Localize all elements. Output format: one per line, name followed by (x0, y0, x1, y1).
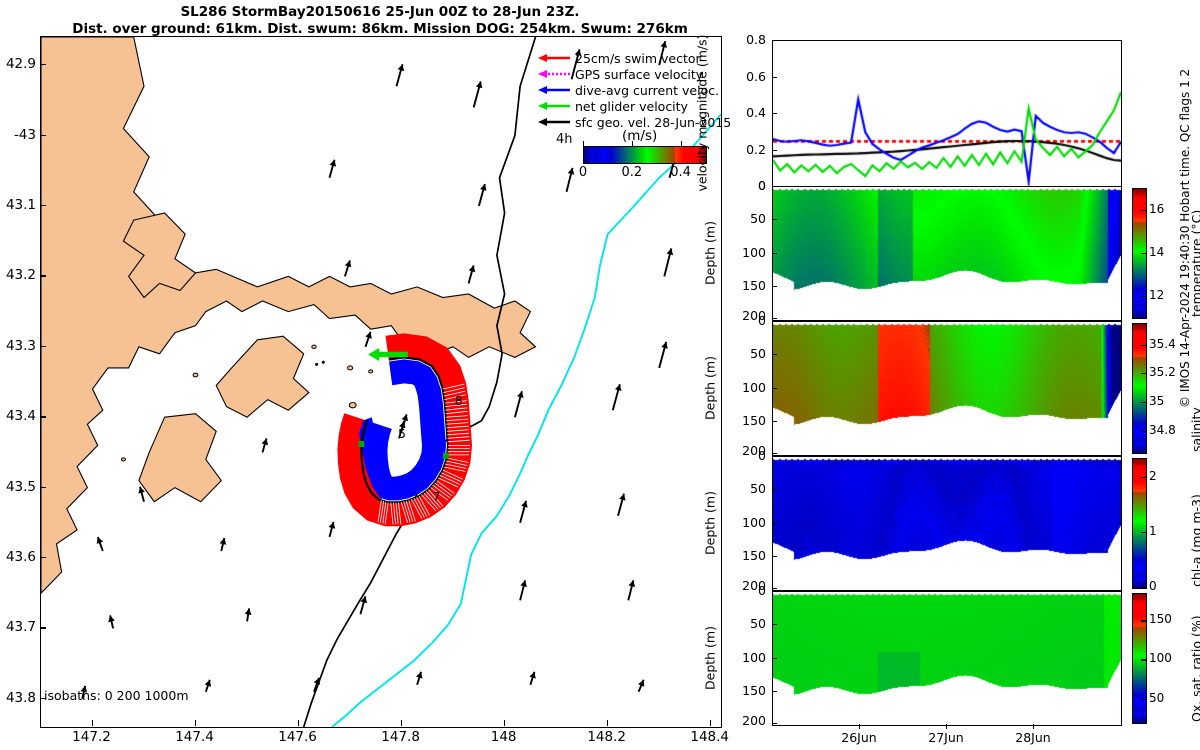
chla-ytick: 0 (732, 448, 766, 463)
oxygen-ytick: 0 (732, 583, 766, 598)
map-lat-tickmark (40, 275, 46, 276)
legend-arrow-icon (536, 99, 572, 113)
chla-ylabel: Depth (m) (703, 491, 718, 555)
oxygen-ytick: 100 (732, 650, 766, 665)
chla-ytickmark (772, 489, 777, 490)
oxygen-cbar-tick: 100 (1149, 651, 1172, 665)
map-lat-tick: 43.3 (0, 338, 36, 354)
chla-ytickmark (772, 588, 777, 589)
oxygen-ytick: 50 (732, 616, 766, 631)
salinity-cbar-tick: 35 (1149, 394, 1164, 408)
temperature-cbar-tick: 12 (1149, 288, 1164, 302)
chla-cbar-tickmark (1141, 587, 1146, 588)
velocity-ylabel: velocity magnitude (m/s) (695, 34, 710, 191)
panel-chla[interactable] (772, 456, 1122, 591)
chla-ytick: 100 (732, 515, 766, 530)
chla-ytickmark (772, 456, 777, 457)
temperature-cbar-tickmark (1141, 210, 1146, 211)
temperature-cbar-tickmark (1141, 253, 1146, 254)
map-lon-tickmark (607, 720, 608, 726)
salinity-colorbar (1132, 323, 1147, 454)
map-lon-tickmark (401, 720, 402, 726)
map-lon-tick: 147.6 (268, 729, 328, 745)
salinity-ytickmark (772, 453, 777, 454)
chla-cbar-tickmark (1141, 532, 1146, 533)
velocity-ytickmark (772, 150, 777, 151)
chla-cbar-tick: 2 (1149, 469, 1157, 483)
temperature-ytick: 150 (732, 278, 766, 293)
map-lat-tickmark (40, 346, 46, 347)
salinity-cbar-tickmark (1141, 373, 1146, 374)
temperature-ytickmark (772, 318, 777, 319)
oxygen-cbar-tick: 50 (1149, 691, 1164, 705)
salinity-ytickmark (772, 388, 777, 389)
salinity-ytick: 100 (732, 380, 766, 395)
map-lat-tick: 43.6 (0, 549, 36, 565)
map-lon-tick: 148 (474, 729, 534, 745)
legend-label: net glider velocity (575, 99, 688, 114)
map-colorbar-tick: 0 (569, 165, 597, 180)
map-lat-tickmark (40, 416, 46, 417)
chla-ytick: 50 (732, 481, 766, 496)
salinity-cbar-tickmark (1141, 431, 1146, 432)
temperature-ytickmark (772, 186, 777, 187)
temperature-cbar-tick: 16 (1149, 202, 1164, 216)
title-line-1: SL286 StormBay20150616 25-Jun 00Z to 28-… (0, 4, 760, 21)
map-colorbar-tickmark (583, 141, 584, 146)
velocity-ytickmark (772, 113, 777, 114)
oxygen-cbar-tickmark (1141, 699, 1146, 700)
temperature-ytickmark (772, 219, 777, 220)
map-canvas (41, 37, 721, 727)
salinity-ytickmark (772, 321, 777, 322)
temperature-ytickmark (772, 253, 777, 254)
map-lat-tickmark (40, 487, 46, 488)
salinity-ytick: 50 (732, 346, 766, 361)
salinity-ytickmark (772, 421, 777, 422)
map-lat-tick: 43.4 (0, 408, 36, 424)
chla-cbar-tick: 0 (1149, 579, 1157, 593)
salinity-ytick: 0 (732, 313, 766, 328)
oxygen-ytickmark (772, 624, 777, 625)
copyright-label: © IMOS 14-Apr-2024 19:40:30 Hobart time.… (1178, 69, 1192, 408)
chla-ytickmark (772, 556, 777, 557)
isobaths-label: isobaths: 0 200 1000m (44, 688, 189, 703)
salinity-ylabel: Depth (m) (703, 356, 718, 420)
section-xtickmark (946, 724, 947, 729)
map-lat-tick: 43.8 (0, 690, 36, 706)
panel-salinity[interactable] (772, 321, 1122, 456)
oxygen-ytickmark (772, 591, 777, 592)
oxygen-ytickmark (772, 691, 777, 692)
legend-arrow-icon (536, 115, 572, 129)
track-number-7: 7 (433, 489, 441, 504)
chla-ytick: 150 (732, 548, 766, 563)
colorbar-unit-label: (m/s) (622, 128, 657, 144)
map-lat-tickmark (40, 135, 46, 136)
map-lat-tickmark (40, 205, 46, 206)
map-lat-tick: 43.2 (0, 267, 36, 283)
map-lat-tick: 42.9 (0, 56, 36, 72)
velocity-ytick: 0.4 (732, 105, 766, 120)
velocity-ytickmark (772, 77, 777, 78)
map-lon-tickmark (92, 720, 93, 726)
map-lon-tick: 148.4 (680, 729, 740, 745)
map-colorbar-tick: 0.4 (667, 165, 695, 180)
oxygen-ytickmark (772, 658, 777, 659)
map-lat-tickmark (40, 557, 46, 558)
legend-arrow-icon (536, 83, 572, 97)
track-number-8: 8 (455, 393, 463, 408)
oxygen-ytick: 200 (732, 713, 766, 728)
velocity-ytick: 0.8 (732, 32, 766, 47)
salinity-ytickmark (772, 354, 777, 355)
temperature-ytick: 100 (732, 245, 766, 260)
oxygen-ytick: 150 (732, 683, 766, 698)
temperature-cbar-tick: 14 (1149, 245, 1164, 259)
velocity-ytick: 0.6 (732, 69, 766, 84)
velocity-ytickmark (772, 40, 777, 41)
section-xtick: 28Jun (1008, 730, 1058, 745)
map-lon-tickmark (298, 720, 299, 726)
map-lat-tick: 43.1 (0, 197, 36, 213)
oxygen-cbar-tickmark (1141, 620, 1146, 621)
chla-cbar-tickmark (1141, 477, 1146, 478)
map-velocity-colorbar (583, 146, 707, 164)
salinity-cbar-label: salinity (1189, 407, 1200, 452)
section-xtickmark (859, 724, 860, 729)
salinity-cbar-tick: 35.4 (1149, 337, 1176, 351)
salinity-cbar-tickmark (1141, 402, 1146, 403)
map-lon-tickmark (195, 720, 196, 726)
temperature-ytick: 50 (732, 211, 766, 226)
map-lat-tick: 43.7 (0, 619, 36, 635)
page-title: SL286 StormBay20150616 25-Jun 00Z to 28-… (0, 4, 760, 38)
velocity-ytick: 0.2 (732, 142, 766, 157)
salinity-cbar-tick: 34.8 (1149, 423, 1176, 437)
map-lon-tick: 147.8 (371, 729, 431, 745)
chla-cbar-label: chl-a (mg m-3) (1189, 494, 1200, 587)
map-colorbar-tickmark (681, 141, 682, 146)
legend-arrow-icon (536, 67, 572, 81)
map-lat-tickmark (40, 64, 46, 65)
salinity-ytick: 150 (732, 413, 766, 428)
map-colorbar-tick: 0.2 (618, 165, 646, 180)
chla-cbar-tick: 1 (1149, 524, 1157, 538)
legend-arrow-icon (536, 51, 572, 65)
legend-label: 25cm/s swim vector (575, 51, 701, 66)
oxygen-cbar-tick: 150 (1149, 612, 1172, 626)
panel-velocity[interactable] (772, 40, 1122, 188)
legend-label: GPS surface velocity (575, 67, 703, 82)
oxygen-ytickmark (772, 723, 777, 724)
oxygen-cbar-tickmark (1141, 659, 1146, 660)
salinity-cbar-tick: 35.2 (1149, 365, 1176, 379)
map-lon-tick: 148.2 (577, 729, 637, 745)
salinity-cbar-tickmark (1141, 345, 1146, 346)
section-xtick: 26Jun (834, 730, 884, 745)
temperature-cbar-tickmark (1141, 296, 1146, 297)
track-number-5: 5 (398, 426, 406, 441)
section-xtickmark (1033, 724, 1034, 729)
map-lon-tickmark (504, 720, 505, 726)
temperature-ylabel: Depth (m) (703, 221, 718, 285)
chla-ytickmark (772, 523, 777, 524)
map-lon-tick: 147.2 (62, 729, 122, 745)
map-colorbar-tickmark (632, 141, 633, 146)
map-lon-tick: 147.4 (165, 729, 225, 745)
map-panel[interactable] (40, 36, 722, 728)
section-xtick: 27Jun (921, 730, 971, 745)
map-lat-tick: -43 (0, 127, 36, 143)
map-lat-tickmark (40, 627, 46, 628)
oxygen-ylabel: Depth (m) (703, 626, 718, 690)
map-lon-tickmark (710, 720, 711, 726)
temperature-ytickmark (772, 286, 777, 287)
panel-oxygen[interactable] (772, 591, 1122, 726)
oxygen-cbar-label: Ox. sat. ratio (%) (1189, 615, 1200, 722)
map-lat-tick: 43.5 (0, 479, 36, 495)
panel-temperature[interactable] (772, 186, 1122, 321)
time-interval-label: 4h (556, 132, 573, 147)
temperature-ytick: 0 (732, 178, 766, 193)
